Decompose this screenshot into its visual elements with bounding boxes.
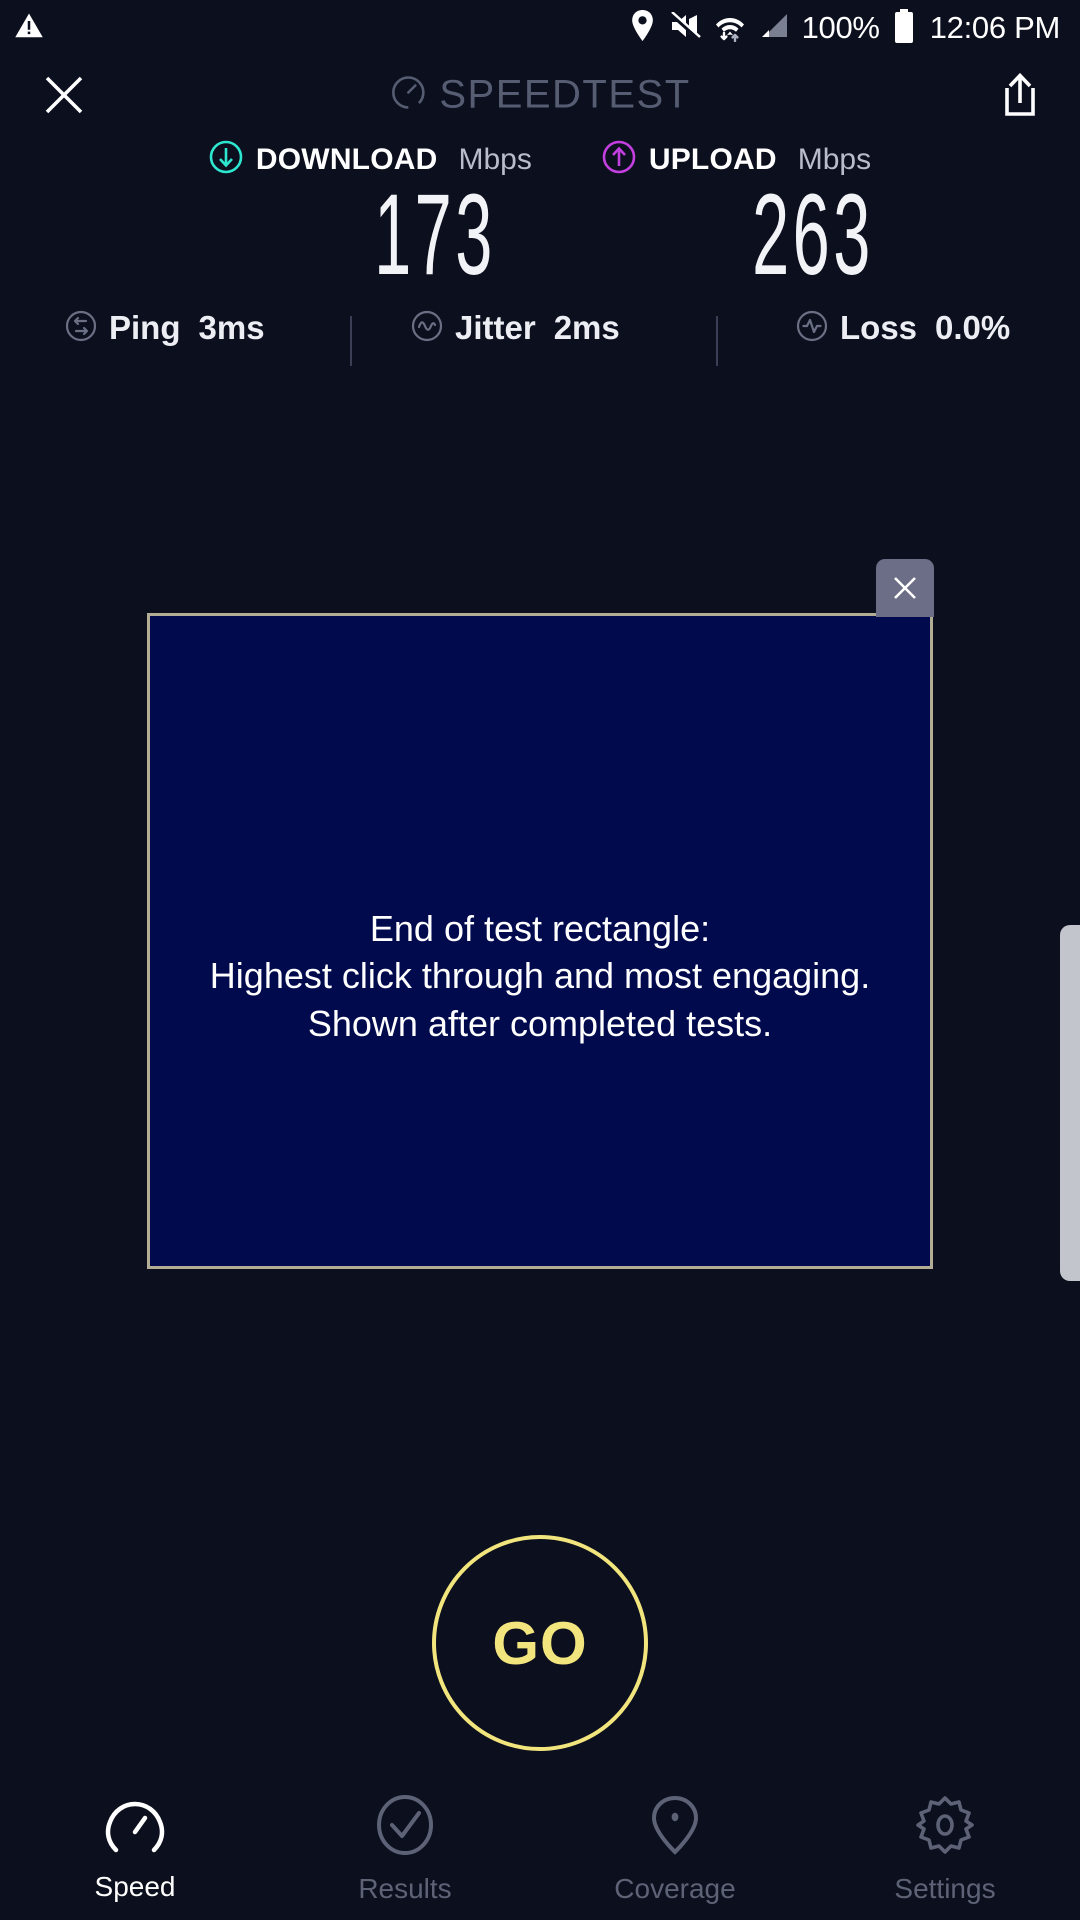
- substat-divider: [716, 316, 718, 366]
- nav-label-speed: Speed: [95, 1871, 176, 1903]
- cellular-signal-icon: [759, 12, 789, 45]
- battery-full-icon: [893, 9, 915, 48]
- speedometer-icon: [104, 1794, 166, 1859]
- edge-scroll-indicator[interactable]: [1060, 925, 1080, 1281]
- advertisement-container: End of test rectangle: Highest click thr…: [147, 613, 933, 1269]
- close-test-button[interactable]: [36, 67, 92, 123]
- gear-icon: [914, 1794, 976, 1861]
- nav-item-results[interactable]: Results: [270, 1780, 540, 1920]
- warning-triangle-icon: [14, 11, 44, 46]
- brand-title: SPEEDTEST: [439, 73, 690, 118]
- nav-label-settings: Settings: [894, 1873, 995, 1905]
- location-pin-icon: [629, 10, 656, 46]
- loss-value: 0.0%: [935, 309, 1010, 347]
- app-header: SPEEDTEST: [0, 56, 1080, 134]
- go-button[interactable]: GO: [432, 1535, 648, 1751]
- ping-label: Ping: [109, 309, 181, 347]
- share-icon: [999, 72, 1041, 118]
- ping-icon: [64, 309, 98, 348]
- close-icon: [889, 572, 921, 604]
- battery-percent-label: 100%: [802, 10, 880, 46]
- nav-label-coverage: Coverage: [614, 1873, 735, 1905]
- speedtest-app-screen: 100% 12:06 PM: [0, 0, 1080, 1920]
- jitter-icon: [410, 309, 444, 348]
- bottom-navigation-bar: Speed Results Coverage: [0, 1780, 1080, 1920]
- ping-stat: Ping 3ms: [64, 309, 265, 348]
- metric-headers: DOWNLOAD Mbps UPLOAD Mbps: [0, 140, 1080, 179]
- substats-row: Ping 3ms Jitter 2ms: [0, 300, 1080, 356]
- ad-line-2: Highest click through and most engaging.: [210, 952, 870, 1000]
- ad-banner[interactable]: End of test rectangle: Highest click thr…: [147, 613, 933, 1269]
- ad-text: End of test rectangle: Highest click thr…: [200, 905, 880, 1048]
- jitter-stat: Jitter 2ms: [410, 309, 620, 348]
- circle-arrow-up-icon: [602, 140, 636, 179]
- status-bar-clock: 12:06 PM: [930, 10, 1060, 46]
- result-metrics: DOWNLOAD Mbps UPLOAD Mbps 173 263: [0, 140, 1080, 289]
- circle-arrow-down-icon: [209, 140, 243, 179]
- loss-label: Loss: [840, 309, 917, 347]
- nav-item-speed[interactable]: Speed: [0, 1780, 270, 1920]
- close-icon: [42, 73, 86, 117]
- substat-divider: [350, 316, 352, 366]
- speedometer-icon: [389, 74, 427, 117]
- ping-value: 3ms: [199, 309, 265, 347]
- ad-close-button[interactable]: [876, 559, 934, 617]
- volume-mute-icon: [669, 12, 701, 45]
- ad-line-1: End of test rectangle:: [210, 905, 870, 953]
- nav-item-settings[interactable]: Settings: [810, 1780, 1080, 1920]
- download-value: 173: [374, 181, 496, 289]
- status-bar-left: [14, 11, 44, 46]
- go-button-label: GO: [492, 1609, 587, 1678]
- status-bar-right: 100% 12:06 PM: [629, 9, 1060, 48]
- jitter-value: 2ms: [554, 309, 620, 347]
- ad-line-3: Shown after completed tests.: [210, 1000, 870, 1048]
- brand-logo: SPEEDTEST: [389, 73, 690, 118]
- upload-value: 263: [752, 181, 874, 289]
- wifi-icon: [714, 10, 746, 47]
- check-circle-icon: [374, 1794, 436, 1861]
- map-pin-icon: [646, 1794, 704, 1861]
- metric-values: 173 263: [0, 181, 1080, 289]
- nav-label-results: Results: [358, 1873, 451, 1905]
- share-result-button[interactable]: [992, 67, 1048, 123]
- loss-stat: Loss 0.0%: [795, 309, 1010, 348]
- nav-item-coverage[interactable]: Coverage: [540, 1780, 810, 1920]
- loss-icon: [795, 309, 829, 348]
- jitter-label: Jitter: [455, 309, 536, 347]
- system-status-bar: 100% 12:06 PM: [0, 0, 1080, 56]
